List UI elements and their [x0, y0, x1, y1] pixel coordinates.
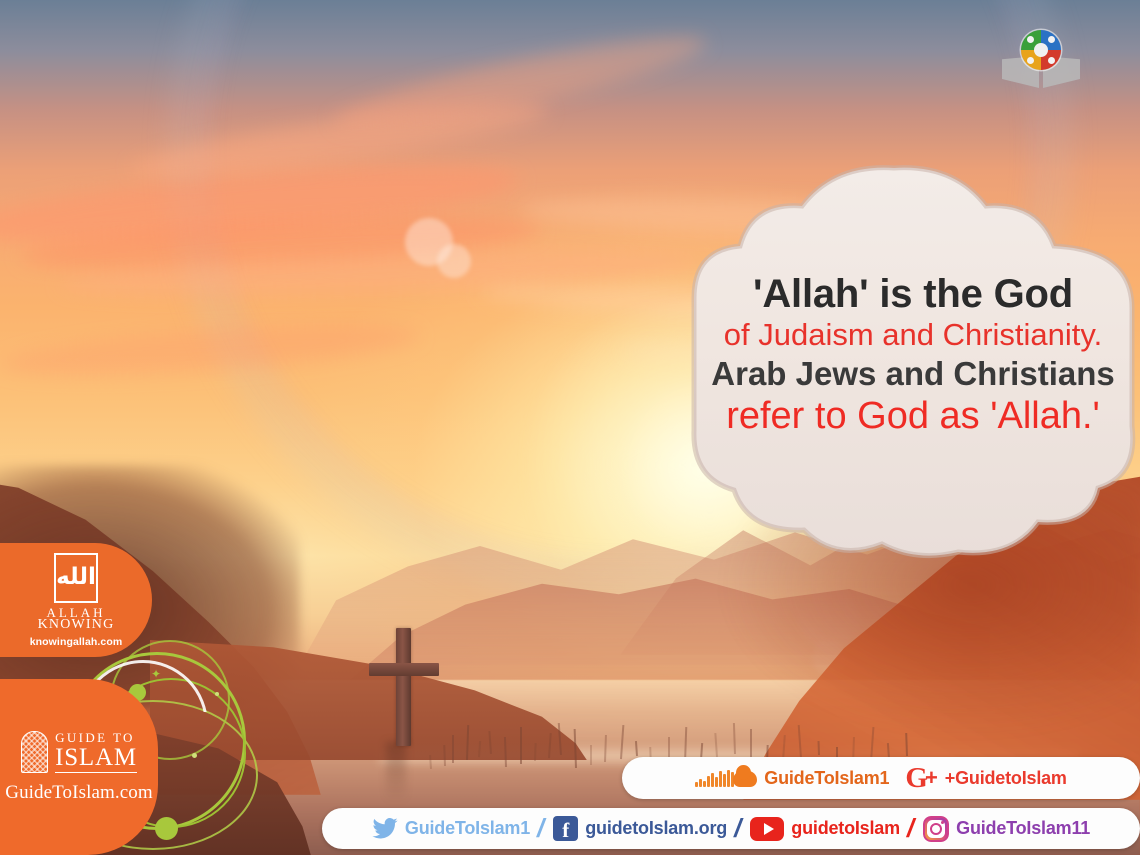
social-link-youtube[interactable]: guidetoIslam / — [750, 813, 914, 844]
guide-to-islam-logo[interactable]: GUIDE TO ISLAM GuideToIslam.com — [0, 679, 158, 855]
decorative-dot — [192, 753, 197, 758]
quote-line-2: of Judaism and Christianity. — [700, 319, 1126, 352]
twitter-icon — [372, 818, 398, 839]
knowing-allah-logo[interactable]: الله ALLAH KNOWING knowingallah.com — [0, 543, 152, 657]
wooden-cross-vertical — [396, 628, 411, 746]
knowing-allah-url[interactable]: knowingallah.com — [30, 636, 123, 648]
quote-card: 'Allah' is the God of Judaism and Christ… — [686, 158, 1140, 563]
wooden-cross-horizontal — [369, 663, 439, 676]
quote-line-1: 'Allah' is the God — [700, 273, 1126, 315]
mosque-arch-icon — [21, 731, 48, 773]
guide-to-islam-url[interactable]: GuideToIslam.com — [5, 782, 153, 804]
google-plus-icon: G+ — [905, 764, 937, 793]
social-bar-secondary: GuideToIslam1 / f guidetoIslam.org / gui… — [322, 808, 1140, 849]
decorative-dot — [215, 692, 219, 696]
allah-glyph: الله — [56, 566, 96, 589]
youtube-icon — [750, 817, 784, 841]
knowing-allah-word-bottom: KNOWING — [38, 618, 115, 632]
youtube-handle[interactable]: guidetoIslam — [791, 818, 900, 839]
quote-line-3: Arab Jews and Christians — [700, 357, 1126, 392]
separator: / — [907, 813, 914, 844]
social-link-instagram[interactable]: GuideToIslam11 — [923, 816, 1090, 842]
twitter-handle[interactable]: GuideToIslam1 — [405, 818, 530, 839]
decorative-star-icon: ✦ — [151, 668, 161, 680]
social-link-facebook[interactable]: f guidetoIslam.org / — [553, 813, 741, 844]
open-book-globe-logo — [1002, 30, 1080, 88]
soundcloud-handle[interactable]: GuideToIslam1 — [764, 768, 889, 789]
cross-shadow — [386, 742, 406, 802]
social-bar-primary: GuideToIslam1 G+ +GuidetoIslam — [622, 757, 1140, 799]
social-link-soundcloud[interactable]: GuideToIslam1 — [695, 768, 889, 789]
guide-to-islam-line2: ISLAM — [55, 745, 137, 773]
social-link-twitter[interactable]: GuideToIslam1 / — [372, 813, 544, 844]
instagram-icon — [923, 816, 949, 842]
separator: / — [537, 813, 544, 844]
quote-text-block: 'Allah' is the God of Judaism and Christ… — [686, 158, 1140, 563]
instagram-handle[interactable]: GuideToIslam11 — [956, 818, 1090, 839]
social-link-google-plus[interactable]: G+ +GuidetoIslam — [905, 764, 1066, 793]
separator: / — [734, 813, 741, 844]
quote-line-4: refer to God as 'Allah.' — [700, 396, 1126, 436]
allah-calligraphy-icon: الله — [54, 553, 98, 603]
soundcloud-icon — [695, 770, 757, 787]
facebook-icon: f — [553, 816, 578, 841]
poster-canvas: 'Allah' is the God of Judaism and Christ… — [0, 0, 1140, 855]
facebook-handle[interactable]: guidetoIslam.org — [585, 818, 727, 839]
guide-to-islam-line1: GUIDE TO — [55, 731, 137, 744]
decorative-dot — [155, 817, 178, 840]
google-plus-handle[interactable]: +GuidetoIslam — [945, 768, 1067, 789]
globe-icon — [1021, 30, 1061, 70]
